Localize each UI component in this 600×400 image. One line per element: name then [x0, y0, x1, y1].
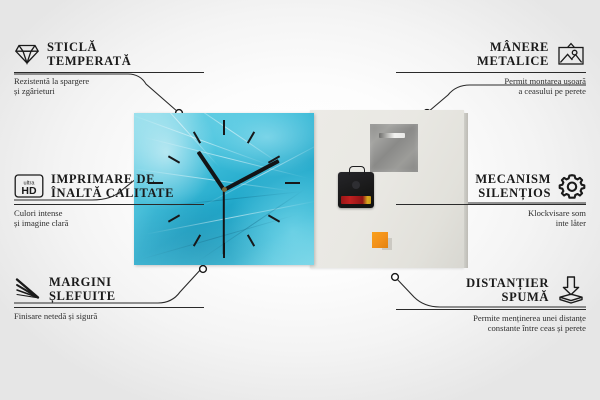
mechanism-hanging-loop [349, 166, 365, 175]
callout-metal-handles: MÂNERE METALICE Permit montarea ușoară a… [396, 40, 586, 97]
callout-header: ultra HD IMPRIMARE DE ÎNALTĂ CALITATE [14, 172, 204, 200]
callout-title: MARGINI ȘLEFUITE [49, 275, 116, 303]
clock-tick [285, 182, 300, 184]
callout-header: MARGINI ȘLEFUITE [14, 275, 204, 303]
svg-text:HD: HD [21, 185, 37, 197]
callout-divider [14, 72, 204, 73]
foam-spacer [372, 232, 388, 248]
ultra-hd-icon: ultra HD [14, 173, 44, 199]
callout-header: STICLĂ TEMPERATĂ [14, 40, 204, 68]
callout-divider [14, 307, 204, 308]
callout-subtitle: Permit montarea ușoară a ceasului pe per… [396, 76, 586, 97]
callout-polished-edges: MARGINI ȘLEFUITE Finisare netedă și sigu… [14, 275, 204, 321]
second-hand [223, 189, 225, 255]
callout-header: MECANISM SILENȚIOS [396, 172, 586, 200]
hanger-keyhole-slot [379, 133, 405, 138]
callout-divider [14, 204, 204, 205]
callout-foam-spacer: DISTANȚIER SPUMĂ Permite menținerea unei… [396, 275, 586, 334]
callout-header: MÂNERE METALICE [396, 40, 586, 68]
picture-frame-icon [556, 41, 586, 67]
callout-subtitle: Klockvisare som inte låter [396, 208, 586, 229]
callout-title: DISTANȚIER SPUMĂ [466, 276, 549, 304]
clock-mechanism [338, 172, 374, 208]
gear-icon [558, 172, 586, 200]
callout-subtitle: Rezistentă la spargere și zgârieturi [14, 76, 204, 97]
callout-divider [396, 309, 586, 310]
product-infographic: STICLĂ TEMPERATĂ Rezistentă la spargere … [0, 0, 600, 400]
callout-header: DISTANȚIER SPUMĂ [396, 275, 586, 305]
callout-subtitle: Permite menținerea unei distanțe constan… [396, 313, 586, 334]
diamond-icon [14, 43, 40, 65]
mechanism-battery [341, 196, 371, 204]
down-arrow-pad-icon [556, 275, 586, 305]
mechanism-shaft [352, 181, 360, 189]
hands-center-cap [222, 187, 227, 192]
callout-high-quality-print: ultra HD IMPRIMARE DE ÎNALTĂ CALITATE Cu… [14, 172, 204, 229]
callout-subtitle: Culori intense și imagine clară [14, 208, 204, 229]
diagonal-lines-icon [14, 277, 42, 301]
callout-subtitle: Finisare netedă și sigură [14, 311, 204, 321]
clock-tick [223, 120, 225, 135]
callout-title: IMPRIMARE DE ÎNALTĂ CALITATE [51, 172, 174, 200]
metal-hanger-plate [370, 124, 418, 172]
callout-title: STICLĂ TEMPERATĂ [47, 40, 131, 68]
callout-tempered-glass: STICLĂ TEMPERATĂ Rezistentă la spargere … [14, 40, 204, 97]
callout-divider [396, 72, 586, 73]
callout-title: MÂNERE METALICE [477, 40, 549, 68]
callout-title: MECANISM SILENȚIOS [475, 172, 551, 200]
callout-silent-mechanism: MECANISM SILENȚIOS Klockvisare som inte … [396, 172, 586, 229]
callout-divider [396, 204, 586, 205]
